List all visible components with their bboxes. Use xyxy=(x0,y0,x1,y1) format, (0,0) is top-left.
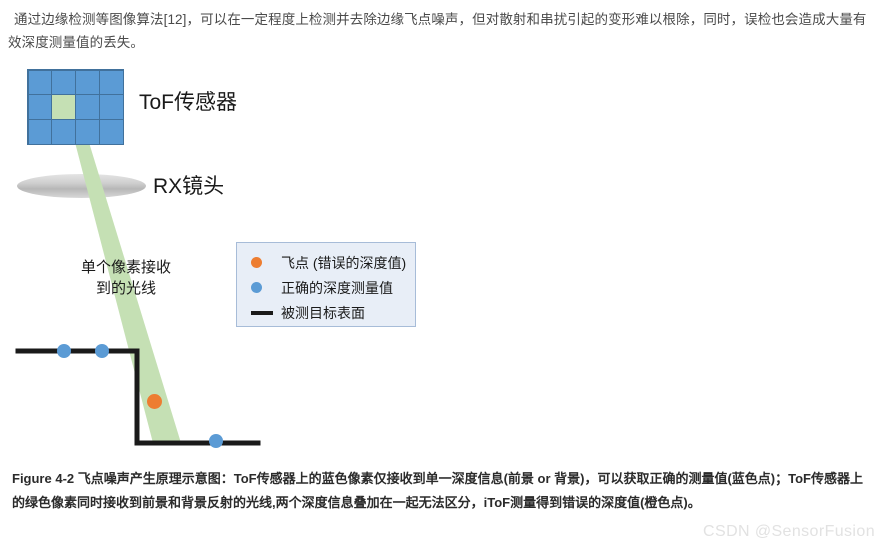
legend-item-correct-depth: 正确的深度测量值 xyxy=(237,275,415,300)
legend-item-flying-point: 飞点 (错误的深度值) xyxy=(237,250,415,275)
pixel-cell-r1c3 xyxy=(76,71,98,94)
light-ray-beam-icon xyxy=(0,55,881,455)
pixel-cell-r2c1 xyxy=(29,95,51,118)
depth-dot-correct-2 xyxy=(95,344,109,358)
rx-lens-ellipse-icon xyxy=(17,174,146,198)
legend-label-flying-point: 飞点 (错误的深度值) xyxy=(281,253,406,273)
legend-box: 飞点 (错误的深度值) 正确的深度测量值 被测目标表面 xyxy=(236,242,416,327)
figure-caption: Figure 4-2 飞点噪声产生原理示意图：ToF传感器上的蓝色像素仅接收到单… xyxy=(12,467,872,515)
label-single-pixel-ray: 单个像素接收 到的光线 xyxy=(68,257,184,299)
legend-label-target-surface: 被测目标表面 xyxy=(281,303,365,323)
blue-dot-icon xyxy=(251,282,281,293)
pixel-cell-r2c2-green xyxy=(52,95,74,118)
legend-item-target-surface: 被测目标表面 xyxy=(237,300,415,325)
label-rx-lens: RX镜头 xyxy=(153,170,224,200)
legend-label-correct-depth: 正确的深度测量值 xyxy=(281,278,393,298)
watermark: CSDN @SensorFusion xyxy=(703,523,875,541)
intro-paragraph-text: 通过边缘检测等图像算法[12]，可以在一定程度上检测并去除边缘飞点噪声，但对散射… xyxy=(8,12,867,50)
label-tof-sensor: ToF传感器 xyxy=(139,86,237,116)
black-line-icon xyxy=(251,311,281,315)
orange-dot-icon xyxy=(251,257,281,268)
figure-diagram: ToF传感器 RX镜头 单个像素接收 到的光线 飞点 (错误的深度值) 正确的深… xyxy=(0,55,881,455)
depth-dot-correct-1 xyxy=(57,344,71,358)
label-single-pixel-ray-line2: 到的光线 xyxy=(68,278,184,299)
target-surface-step-line xyxy=(0,55,881,455)
tof-sensor-pixel-grid xyxy=(27,69,124,145)
depth-dot-correct-3 xyxy=(209,434,223,448)
depth-dot-flying-point xyxy=(147,394,162,409)
pixel-cell-r2c3 xyxy=(76,95,98,118)
pixel-cell-r3c4 xyxy=(100,120,122,143)
pixel-cell-r1c1 xyxy=(29,71,51,94)
pixel-cell-r3c3 xyxy=(76,120,98,143)
label-single-pixel-ray-line1: 单个像素接收 xyxy=(68,257,184,278)
intro-paragraph: 通过边缘检测等图像算法[12]，可以在一定程度上检测并去除边缘飞点噪声，但对散射… xyxy=(8,8,876,54)
pixel-cell-r2c4 xyxy=(100,95,122,118)
pixel-cell-r1c4 xyxy=(100,71,122,94)
pixel-cell-r1c2 xyxy=(52,71,74,94)
pixel-cell-r3c1 xyxy=(29,120,51,143)
pixel-cell-r3c2 xyxy=(52,120,74,143)
